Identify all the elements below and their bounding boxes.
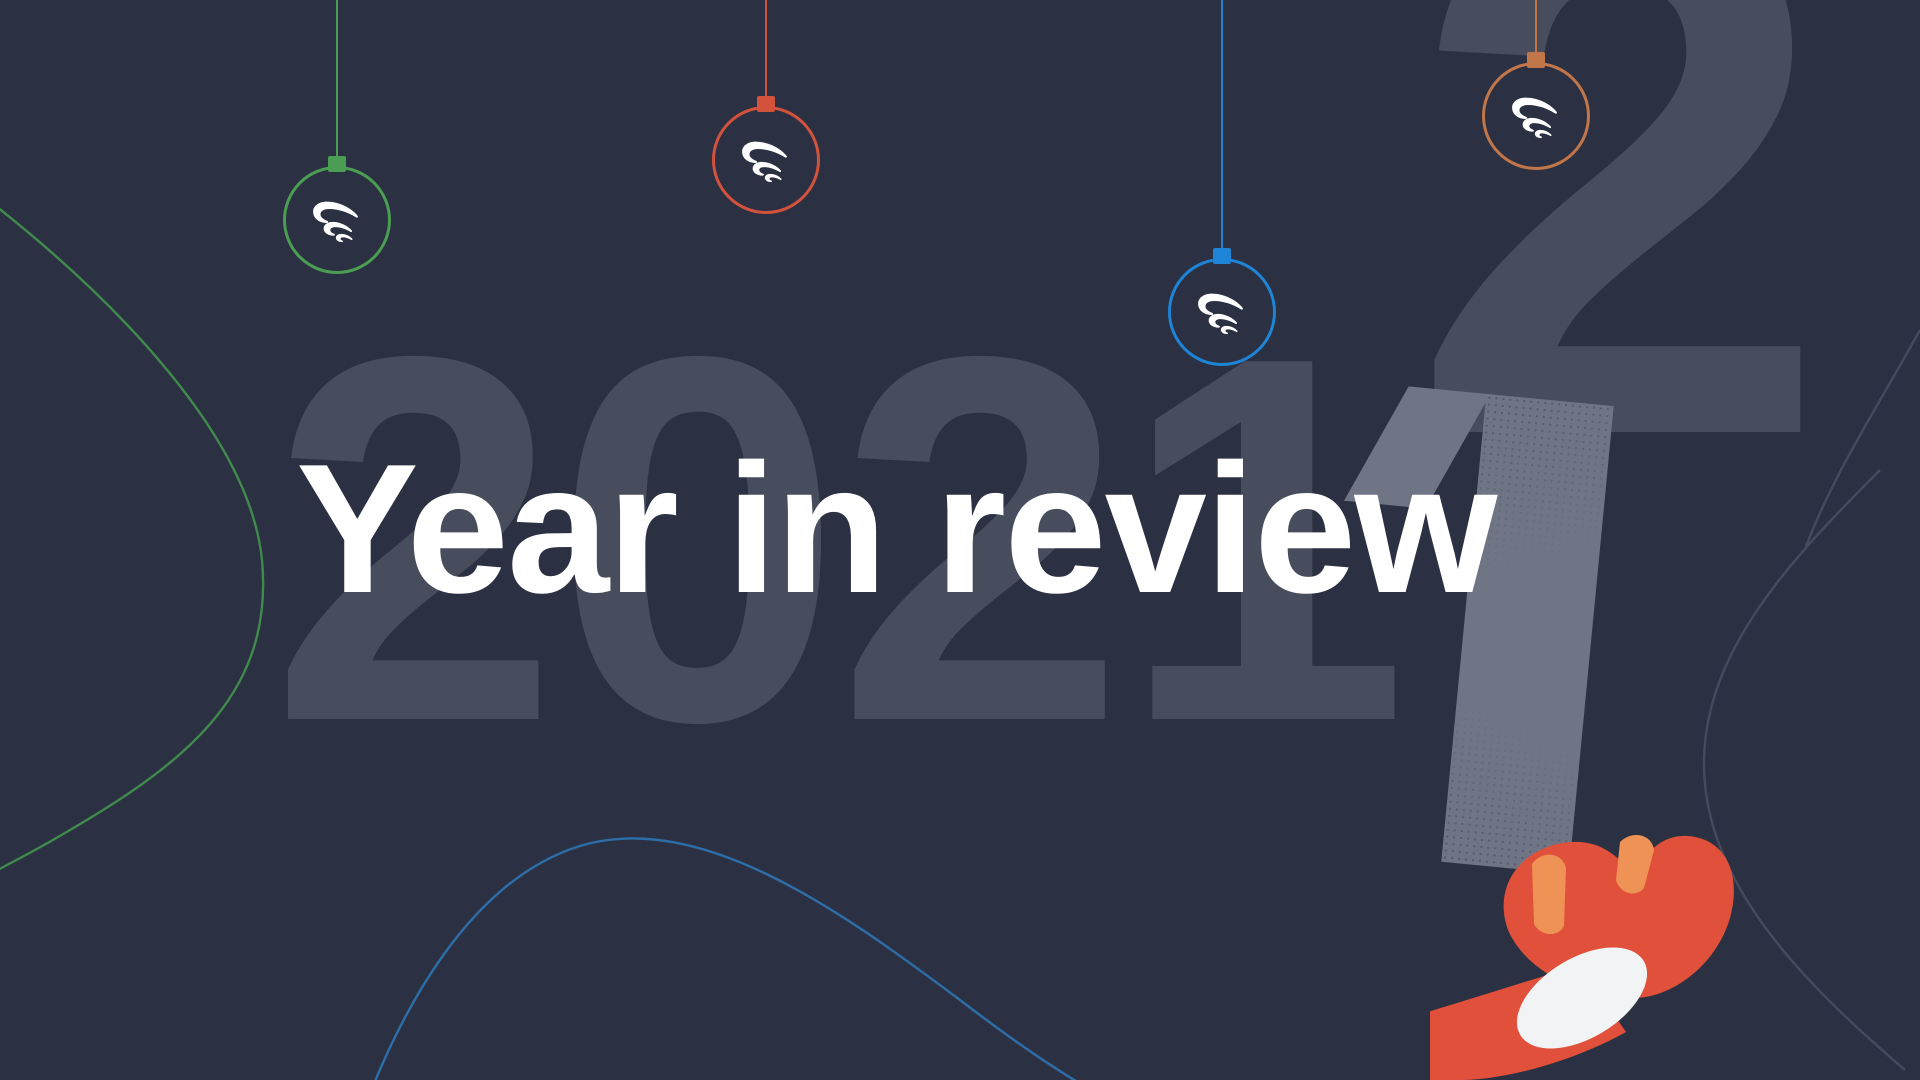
- ornament-orange: [1482, 0, 1590, 176]
- ornament-green: [283, 0, 391, 280]
- ornament-string: [765, 0, 767, 96]
- ornament-ball: [283, 166, 391, 274]
- page-title: Year in review: [296, 436, 1495, 620]
- ornament-string: [1535, 0, 1537, 52]
- thumb-left: [1532, 855, 1566, 934]
- ornament-ball: [1482, 62, 1590, 170]
- curve-green-left: [0, 186, 263, 890]
- curve-blue-bottom: [360, 838, 1110, 1080]
- ornament-ball: [1168, 258, 1276, 366]
- swiper-logo: [1506, 86, 1565, 145]
- swiper-logo: [1192, 282, 1251, 341]
- ornament-string: [336, 0, 338, 156]
- ornament-blue: [1168, 0, 1276, 372]
- ornament-red: [712, 0, 820, 220]
- ornament-ball: [712, 106, 820, 214]
- ornament-string: [1221, 0, 1223, 248]
- year-in-review-banner: 2 2021 Year in review: [0, 0, 1920, 1080]
- santa-hand-illustration: [1430, 770, 1920, 1080]
- swiper-logo: [736, 130, 795, 189]
- swiper-logo: [307, 190, 366, 249]
